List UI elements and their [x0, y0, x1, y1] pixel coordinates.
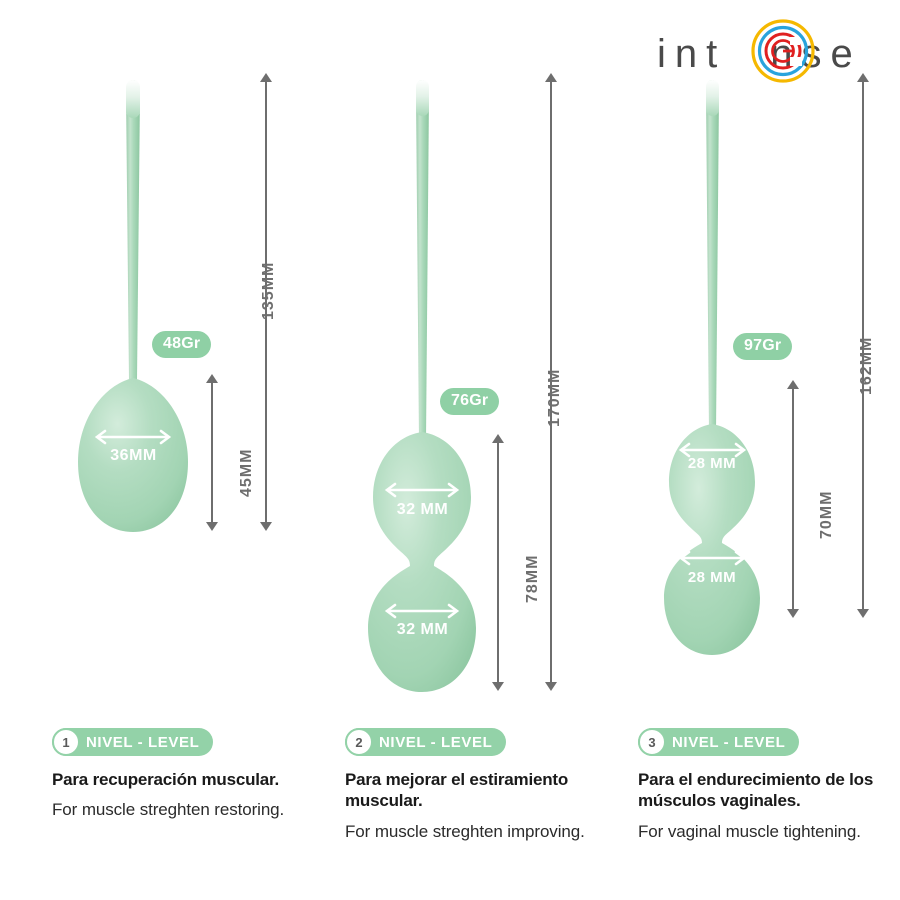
level-number-3: 3	[638, 728, 666, 756]
level-number-2: 2	[345, 728, 373, 756]
product-1-ball-width-label: 36MM	[81, 447, 186, 465]
product-2-title-es: Para mejorar el estiramiento muscular.	[345, 769, 605, 812]
level-number-1: 1	[52, 728, 80, 756]
level-label-1: NIVEL - LEVEL	[86, 735, 199, 750]
info-block-2: 2 NIVEL - LEVEL Para mejorar el estirami…	[345, 728, 605, 843]
level-badge-1: 1 NIVEL - LEVEL	[52, 728, 213, 756]
product-2-weight-badge: 76Gr	[440, 388, 499, 415]
product-column-3: 97Gr 28 MM 28 MM 70MM 162MM	[600, 0, 900, 720]
infographic-page: int nse	[0, 0, 900, 900]
level-label-3: NIVEL - LEVEL	[672, 735, 785, 750]
product-2-ball-dimension-label: 78MM	[524, 555, 542, 603]
product-1-device-illustration	[0, 0, 300, 720]
product-3-ball-width-label-top: 28 MM	[664, 455, 760, 472]
product-3-ball-dimension-arrow	[786, 380, 800, 618]
product-3-total-dimension-label: 162MM	[858, 337, 876, 395]
product-1-ball-dimension-label: 45MM	[238, 449, 256, 497]
product-1-ball-dimension-arrow	[205, 374, 219, 531]
product-3-device-illustration	[600, 0, 900, 720]
product-2-ball-width-label-bottom: 32 MM	[370, 621, 475, 639]
product-3-weight-badge: 97Gr	[733, 333, 792, 360]
product-2-total-dimension-label: 170MM	[546, 369, 564, 427]
product-2-ball-dimension-arrow	[491, 434, 505, 691]
product-3-title-es: Para el endurecimiento de los músculos v…	[638, 769, 900, 812]
product-2-ball-width-label-top: 32 MM	[370, 501, 475, 519]
product-1-title-es: Para recuperación muscular.	[52, 769, 312, 790]
product-1-weight-badge: 48Gr	[152, 331, 211, 358]
product-column-2: 76Gr 32 MM 32 MM 78MM 170MM	[300, 0, 600, 720]
product-1-total-dimension-label: 135MM	[260, 262, 278, 320]
info-block-3: 3 NIVEL - LEVEL Para el endurecimiento d…	[638, 728, 900, 843]
product-column-1: 48Gr 36MM 45MM 135MM	[0, 0, 300, 720]
level-label-2: NIVEL - LEVEL	[379, 735, 492, 750]
product-3-ball-dimension-label: 70MM	[818, 491, 836, 539]
level-badge-3: 3 NIVEL - LEVEL	[638, 728, 799, 756]
product-1-title-en: For muscle streghten restoring.	[52, 799, 312, 821]
product-3-title-en: For vaginal muscle tightening.	[638, 821, 900, 843]
product-2-title-en: For muscle streghten improving.	[345, 821, 605, 843]
product-3-ball-width-label-bottom: 28 MM	[664, 569, 760, 586]
info-block-1: 1 NIVEL - LEVEL Para recuperación muscul…	[52, 728, 312, 821]
level-badge-2: 2 NIVEL - LEVEL	[345, 728, 506, 756]
